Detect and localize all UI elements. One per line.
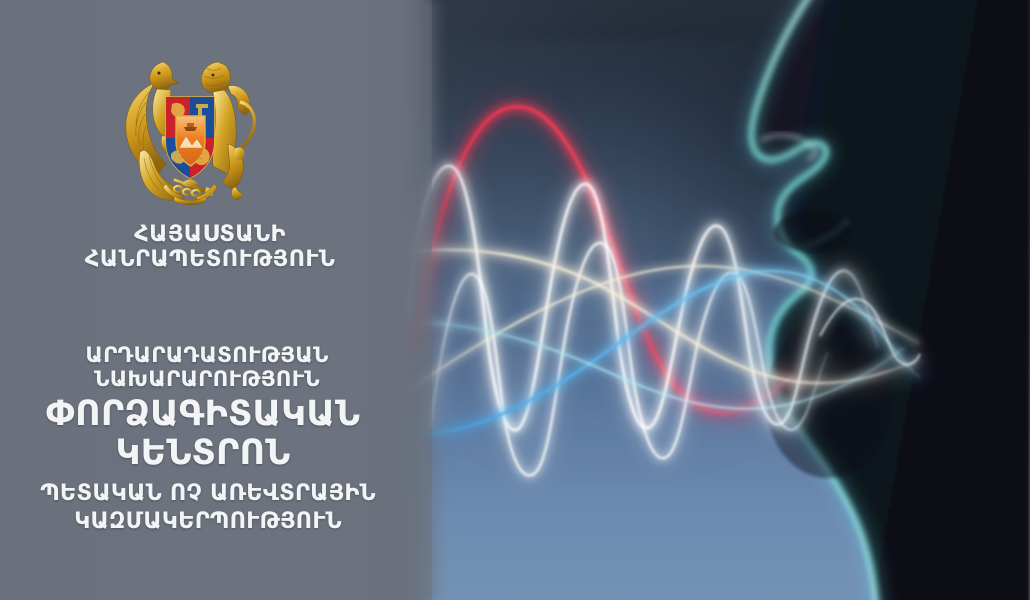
- organization-name-group: ԱՐԴԱՐԱԴԱՏՈՒԹՅԱՆ ՆԱԽԱՐԱՐՈՒԹՅՈՒՆ ՓՈՐՁԱԳԻՏԱ…: [0, 344, 412, 535]
- sound-wave-visualization: [400, 60, 920, 480]
- wave-white-highfreq: [408, 166, 878, 430]
- armenia-coat-of-arms-icon: [116, 44, 264, 208]
- legal-form-line-1: ՊԵՏԱԿԱՆ ՈՉ ԱՌԵՎՏՐԱՅԻՆ: [4, 481, 412, 506]
- banner-image: ՀԱՅԱՍՏԱՆԻ ՀԱՆՐԱՊԵՏՈՒԹՅՈՒՆ ԱՐԴԱՐԱԴԱՏՈՒԹՅԱ…: [0, 0, 1030, 600]
- shield: [166, 97, 214, 178]
- center-name: ՓՈՐՁԱԳԻՏԱԿԱՆ ԿԵՆՏՐՈՆ: [0, 395, 412, 473]
- organization-text-block: ՀԱՅԱՍՏԱՆԻ ՀԱՆՐԱՊԵՏՈՒԹՅՈՒՆ ԱՐԴԱՐԱԴԱՏՈՒԹՅԱ…: [0, 222, 412, 534]
- country-name: ՀԱՅԱՍՏԱՆԻ ՀԱՆՐԱՊԵՏՈՒԹՅՈՒՆ: [8, 222, 412, 272]
- ministry-name: ԱՐԴԱՐԱԴԱՏՈՒԹՅԱՆ ՆԱԽԱՐԱՐՈՒԹՅՈՒՆ: [2, 344, 412, 392]
- legal-form-line-2: ԿԱԶՄԱԿԵՐՊՈՒԹՅՈՒՆ: [4, 509, 412, 534]
- shield-base-ornaments: [163, 178, 217, 205]
